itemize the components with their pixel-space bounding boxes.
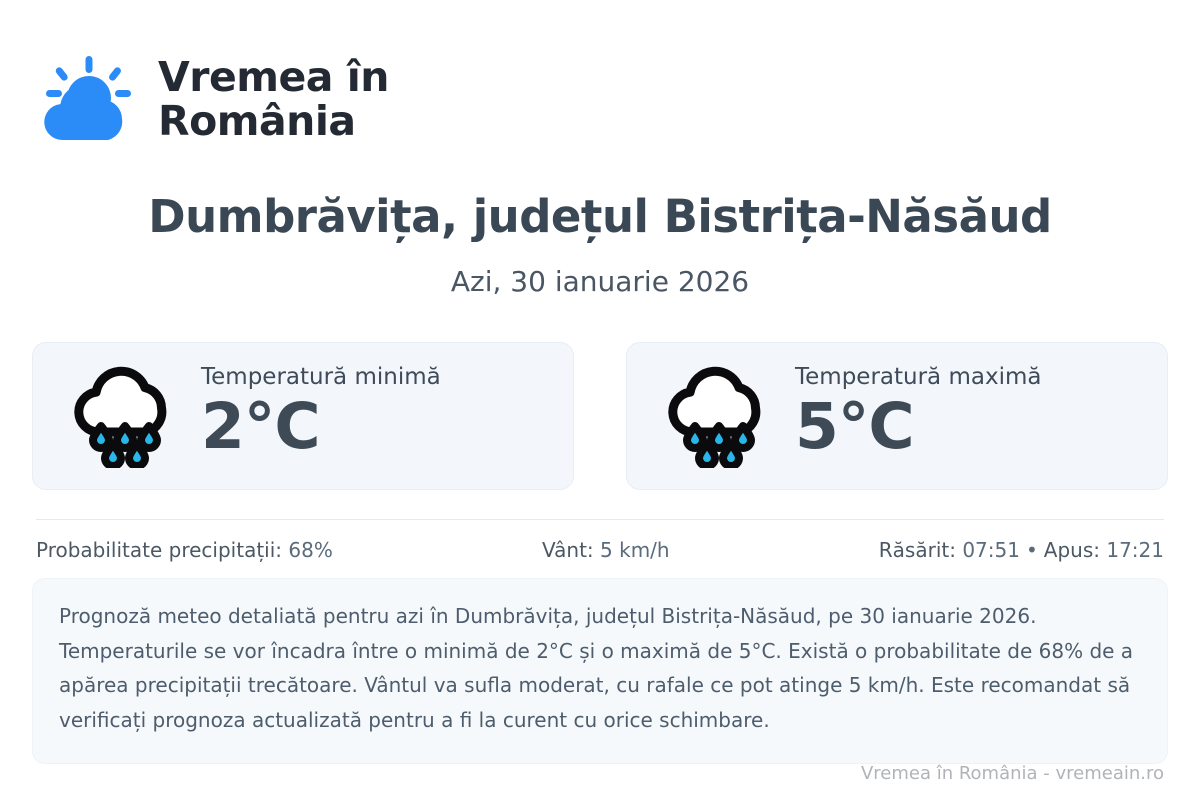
- section-divider: [36, 519, 1164, 520]
- min-temperature-value: 2°C: [201, 392, 441, 463]
- sunset-label: Apus:: [1044, 538, 1107, 562]
- sun-behind-cloud-icon: [36, 48, 140, 152]
- footer-attribution: Vremea în România - vremeain.ro: [861, 763, 1164, 784]
- min-temperature-card: Temperatură minimă 2°C: [32, 342, 574, 490]
- stat-separator: •: [1020, 538, 1044, 562]
- precipitation-label: Probabilitate precipitații:: [36, 538, 288, 562]
- site-title: Vremea în România: [158, 56, 389, 144]
- temperature-cards: Temperatură minimă 2°C: [32, 342, 1168, 490]
- sunset-value: 17:21: [1106, 538, 1164, 562]
- max-temperature-card: Temperatură maximă 5°C: [626, 342, 1168, 490]
- precipitation-value: 68%: [288, 538, 332, 562]
- max-temperature-label: Temperatură maximă: [795, 365, 1041, 390]
- forecast-description: Prognoză meteo detaliată pentru azi în D…: [32, 578, 1168, 764]
- page-title: Dumbrăvița, județul Bistrița-Năsăud: [0, 190, 1200, 243]
- weather-page: Vremea în România Dumbrăvița, județul Bi…: [0, 0, 1200, 800]
- precipitation-stat: Probabilitate precipitații: 68%: [36, 538, 333, 562]
- max-temperature-body: Temperatură maximă 5°C: [795, 365, 1041, 463]
- wind-label: Vânt:: [542, 538, 600, 562]
- wind-stat: Vânt: 5 km/h: [542, 538, 670, 562]
- forecast-date: Azi, 30 ianuarie 2026: [0, 265, 1200, 298]
- weather-stats-row: Probabilitate precipitații: 68% Vânt: 5 …: [36, 538, 1164, 562]
- site-title-line2: România: [158, 97, 356, 145]
- rain-cloud-icon: [67, 364, 179, 468]
- sunrise-value: 07:51: [962, 538, 1020, 562]
- site-logo[interactable]: Vremea în România: [36, 48, 389, 152]
- wind-value: 5 km/h: [600, 538, 670, 562]
- min-temperature-label: Temperatură minimă: [201, 365, 441, 390]
- min-temperature-body: Temperatură minimă 2°C: [201, 365, 441, 463]
- max-temperature-value: 5°C: [795, 392, 1041, 463]
- sun-times-stat: Răsărit: 07:51•Apus: 17:21: [879, 538, 1164, 562]
- rain-cloud-icon: [661, 364, 773, 468]
- site-title-line1: Vremea în: [158, 53, 389, 101]
- sunrise-label: Răsărit:: [879, 538, 963, 562]
